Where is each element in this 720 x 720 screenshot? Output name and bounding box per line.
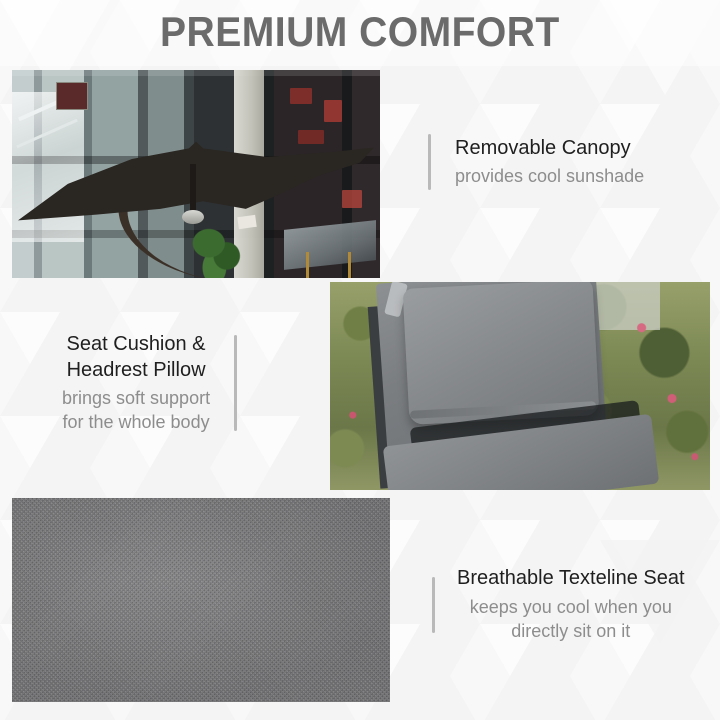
shelf-item-red: [298, 130, 324, 144]
shelf-item-red: [324, 100, 342, 122]
canopy-label-tag: [237, 215, 256, 229]
feature-divider-line: [234, 335, 237, 431]
feature-subtitle: keeps you cool when you directly sit on …: [470, 595, 672, 644]
feature-text-group: Removable Canopy provides cool sunshade: [455, 136, 644, 189]
shelf-item-red: [342, 190, 362, 208]
feature-breathable-texteline-seat: Breathable Texteline Seat keeps you cool…: [432, 566, 685, 643]
infographic-page: PREMIUM COMFORT: [0, 0, 720, 720]
feature-seat-cushion-headrest-pillow: Seat Cushion & Headrest Pillow brings so…: [62, 332, 237, 435]
feature-title: Breathable Texteline Seat: [457, 566, 685, 592]
feature-title: Removable Canopy: [455, 136, 631, 162]
texteline-fabric-macro: [12, 498, 390, 702]
page-title: PREMIUM COMFORT: [160, 10, 560, 54]
feature-divider-line: [432, 577, 435, 633]
canopy-photo: [12, 70, 380, 278]
indoor-chair-legs: [298, 252, 368, 278]
cushion-photo: [330, 282, 710, 490]
shelf-item-red: [290, 88, 312, 104]
feature-subtitle: provides cool sunshade: [455, 164, 644, 188]
canopy-pole: [190, 164, 196, 216]
feature-text-group: Breathable Texteline Seat keeps you cool…: [457, 566, 685, 643]
header: PREMIUM COMFORT: [0, 10, 720, 54]
feature-title: Seat Cushion & Headrest Pillow: [67, 332, 206, 383]
fabric-photo: [12, 498, 390, 702]
feature-subtitle: brings soft support for the whole body: [62, 386, 210, 435]
canopy-hub: [182, 210, 204, 224]
wall-poster: [56, 82, 88, 110]
feature-divider-line: [428, 134, 431, 190]
feature-removable-canopy: Removable Canopy provides cool sunshade: [428, 134, 644, 190]
feature-text-group: Seat Cushion & Headrest Pillow brings so…: [62, 332, 210, 435]
